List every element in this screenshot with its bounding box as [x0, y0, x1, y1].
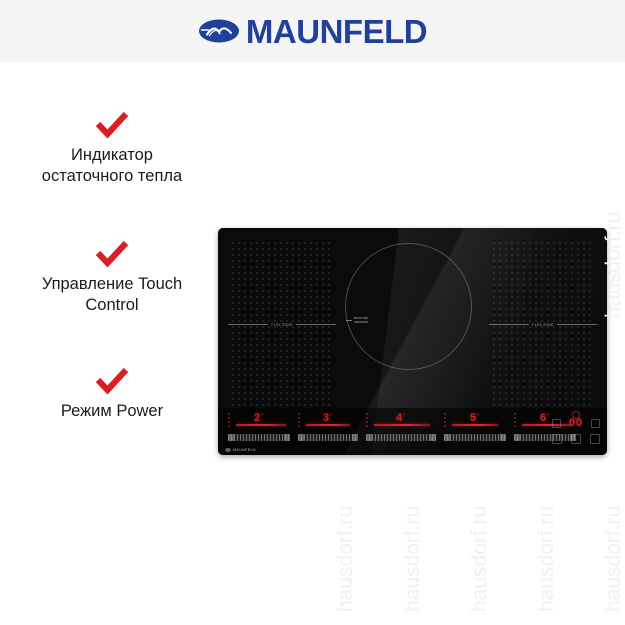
- timer-keypad[interactable]: 00: [552, 411, 600, 444]
- slider-plus-cap[interactable]: [430, 434, 436, 441]
- heat-level-bar: [452, 424, 498, 426]
- feature-item-power-mode: Режим Power: [8, 361, 216, 422]
- cooktop-brand-text: MAUNFELD: [233, 448, 256, 452]
- page-header: MAUNFELD: [0, 0, 625, 62]
- heat-level-display-4: 5P: [470, 413, 480, 424]
- burner-control-2[interactable]: 3P: [298, 413, 358, 441]
- red-checkmark-icon: [8, 105, 216, 145]
- burner-control-4[interactable]: 5P: [444, 413, 506, 441]
- maunfeld-oval-logo-icon: [198, 17, 240, 45]
- heat-level-dots: [298, 413, 301, 427]
- watermark: hausdorf.ru: [334, 506, 358, 612]
- flex-zone-label-left: FLEX ZONE: [228, 320, 336, 329]
- slider-track-4[interactable]: [444, 434, 506, 441]
- heat-level-dots: [366, 413, 369, 427]
- feature-item-touch-control: Управление Touch Control: [8, 234, 216, 316]
- heat-level-bar: [236, 424, 286, 426]
- feature-label: Индикатор остаточного тепла: [8, 145, 216, 187]
- heat-level-dots: [514, 413, 517, 427]
- heat-level-display-2: 3P: [323, 413, 333, 424]
- slider-minus-cap[interactable]: [514, 434, 520, 441]
- slider-plus-cap[interactable]: [284, 434, 290, 441]
- feature-item-residual-heat: Индикатор остаточного тепла: [8, 105, 216, 187]
- plus-icon[interactable]: [591, 419, 600, 428]
- slider-minus-cap[interactable]: [298, 434, 304, 441]
- pause-icon[interactable]: [590, 434, 600, 444]
- induction-cooktop-image: FLEX ZONE FLEX ZONE BOOSTER WARMING 2P 3…: [218, 228, 607, 455]
- timer-icon[interactable]: [571, 434, 581, 444]
- keypad-bottom-row: [552, 434, 600, 444]
- feature-label: Режим Power: [8, 401, 216, 422]
- burner-control-1[interactable]: 2P: [228, 413, 290, 441]
- lock-icon[interactable]: [552, 434, 562, 444]
- watermark: hausdorf.ru: [401, 506, 425, 612]
- watermark: hausdorf.ru: [602, 212, 625, 318]
- touch-control-panel: 2P 3P 4P: [218, 408, 607, 455]
- flex-zone-label-right: FLEX ZONE: [489, 320, 597, 329]
- heat-level-bar: [306, 424, 350, 426]
- red-checkmark-icon: [8, 234, 216, 274]
- watermark: hausdorf.ru: [468, 506, 492, 612]
- feature-list: Индикатор остаточного тепла Управление T…: [8, 105, 216, 423]
- slider-track-1[interactable]: [228, 434, 290, 441]
- heat-level-display-1: 2P: [254, 413, 264, 424]
- slider-plus-cap[interactable]: [352, 434, 358, 441]
- red-checkmark-icon: [8, 361, 216, 401]
- slider-minus-cap[interactable]: [228, 434, 234, 441]
- heat-level-display-3: 4P: [396, 413, 406, 424]
- slider-minus-cap[interactable]: [444, 434, 450, 441]
- heat-level-dots: [444, 413, 447, 427]
- burner-control-3[interactable]: 4P: [366, 413, 436, 441]
- heat-level-display-5: 6P: [540, 413, 550, 424]
- watermark: hausdorf.ru: [602, 506, 625, 612]
- center-zone-label: BOOSTER WARMING: [346, 316, 386, 325]
- heat-level-bar: [374, 424, 430, 426]
- flex-zone-text: FLEX ZONE: [529, 323, 556, 327]
- slider-plus-cap[interactable]: [500, 434, 506, 441]
- slider-track-3[interactable]: [366, 434, 436, 441]
- slider-minus-cap[interactable]: [366, 434, 372, 441]
- brand-logo: MAUNFELD: [198, 15, 427, 48]
- center-cooking-zone-circle: [345, 243, 472, 370]
- slider-track-2[interactable]: [298, 434, 358, 441]
- center-zone-text: BOOSTER WARMING: [352, 317, 368, 324]
- timer-display: 00: [569, 418, 583, 429]
- maunfeld-oval-logo-icon: [225, 448, 231, 452]
- heat-level-dots: [228, 413, 231, 427]
- brand-name: MAUNFELD: [246, 15, 427, 48]
- watermark: hausdorf.ru: [535, 506, 559, 612]
- feature-label: Управление Touch Control: [8, 274, 216, 316]
- minus-icon[interactable]: [552, 419, 561, 428]
- cooktop-brand-plate: MAUNFELD: [225, 448, 256, 452]
- flex-zone-text: FLEX ZONE: [268, 323, 295, 327]
